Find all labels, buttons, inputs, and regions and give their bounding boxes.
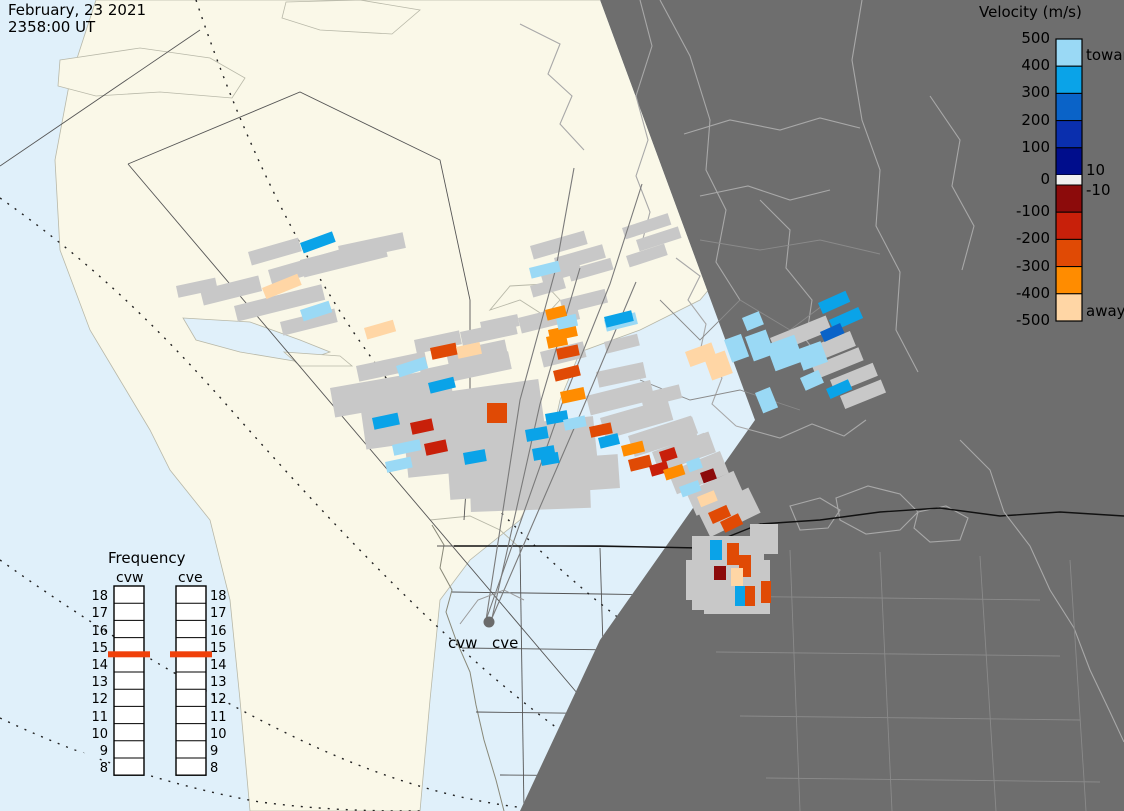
- frequency-scale-label: 17: [210, 606, 232, 621]
- frequency-scale-label: 12: [210, 692, 232, 707]
- frequency-scale-label: 8: [86, 761, 108, 776]
- frequency-scale-label: 9: [210, 744, 232, 759]
- frequency-marker: [108, 651, 150, 657]
- radar-map-figure: cvw cve February, 23 20212358:00 UT Velo…: [0, 0, 1124, 811]
- frequency-bar: [114, 586, 144, 775]
- frequency-scale-label: 11: [210, 710, 232, 725]
- frequency-scale-label: 15: [86, 641, 108, 656]
- frequency-scale-label: 13: [210, 675, 232, 690]
- frequency-scale-label: 12: [86, 692, 108, 707]
- frequency-scale-label: 15: [210, 641, 232, 656]
- frequency-scale-label: 14: [210, 658, 232, 673]
- frequency-bar: [176, 586, 206, 775]
- frequency-bars: [0, 0, 1124, 811]
- frequency-scale-label: 10: [210, 727, 232, 742]
- frequency-scale-label: 18: [86, 589, 108, 604]
- frequency-scale-label: 17: [86, 606, 108, 621]
- frequency-scale-label: 13: [86, 675, 108, 690]
- frequency-scale-label: 16: [210, 624, 232, 639]
- frequency-scale-label: 9: [86, 744, 108, 759]
- frequency-scale-label: 8: [210, 761, 232, 776]
- frequency-marker: [170, 651, 212, 657]
- frequency-scale-label: 18: [210, 589, 232, 604]
- frequency-scale-label: 10: [86, 727, 108, 742]
- frequency-scale-label: 14: [86, 658, 108, 673]
- frequency-scale-label: 11: [86, 710, 108, 725]
- frequency-scale-label: 16: [86, 624, 108, 639]
